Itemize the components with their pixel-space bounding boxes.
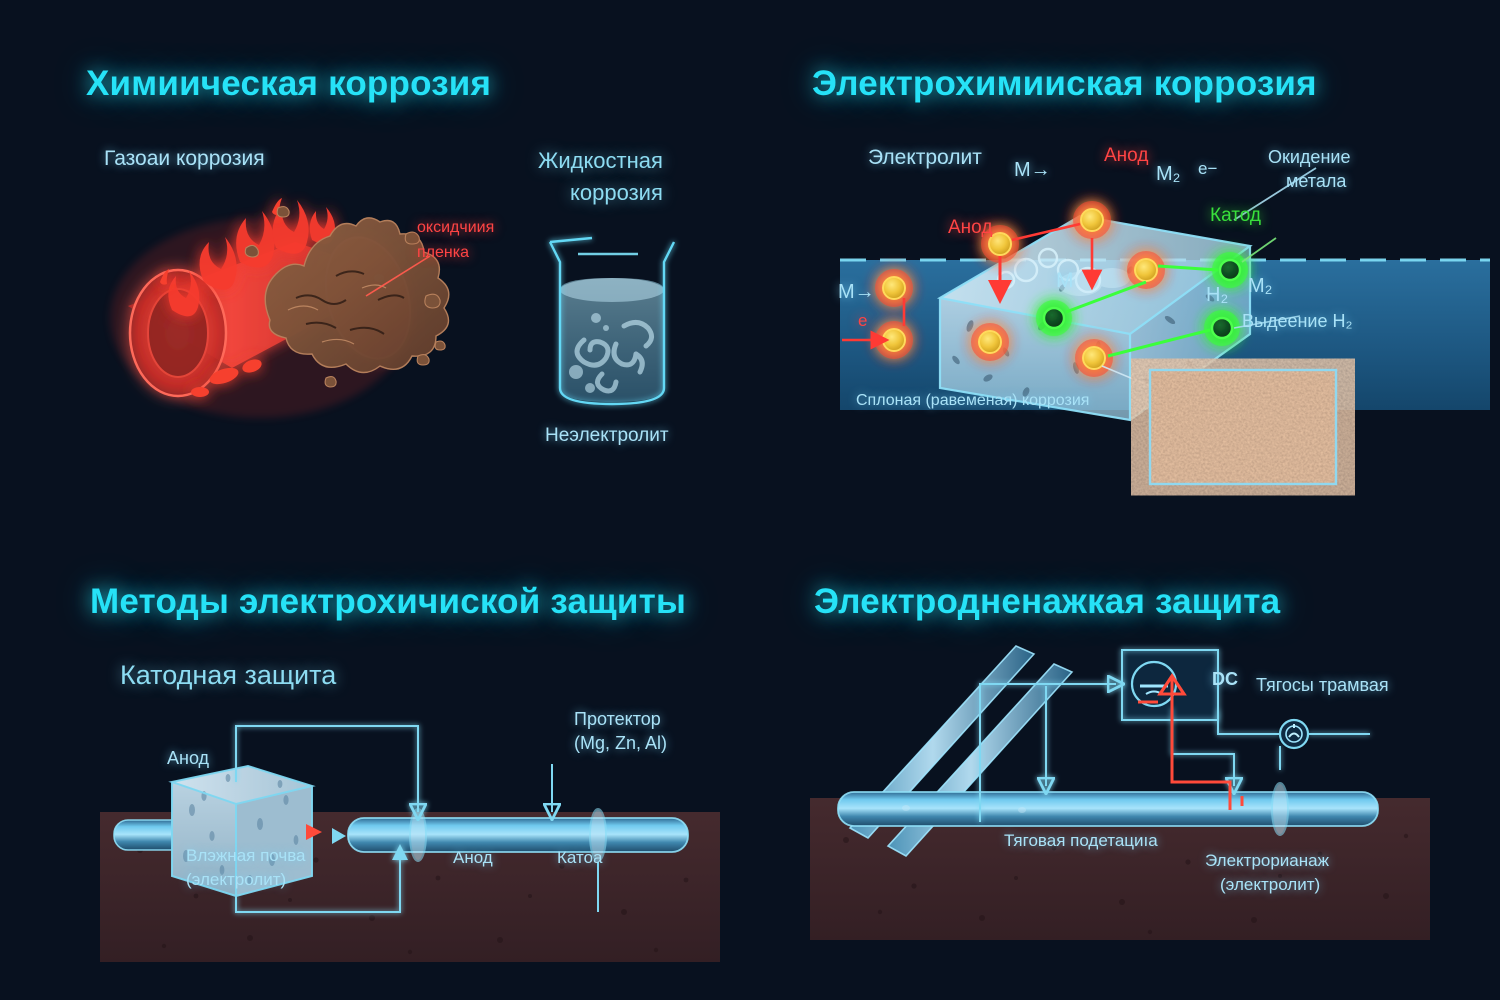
oxidation-label-line2: метала (1286, 170, 1346, 193)
oxide-film-label-line2: пленка (417, 243, 469, 263)
anode-label-top: Анод (1104, 144, 1148, 168)
anode-left-label: Анод (167, 747, 209, 770)
panel-cathodic-title: Методы электрохичиской защиты (90, 582, 686, 622)
protector-label-line1: Протектор (574, 708, 661, 731)
beaker-illustration (532, 228, 692, 418)
panel-chemical-title: Химиическая коррозия (86, 64, 491, 104)
cathodic-subtitle: Катодная защита (120, 660, 336, 691)
panel-electrochemical-corrosion: Электрохимииская коррозия (760, 0, 1500, 520)
metal-ion-label-top: M→ (1014, 158, 1051, 183)
infographic-canvas: Химиическая коррозия Газоаи коррозия (0, 0, 1500, 1000)
traction-substation-label: Тяговая подетациıа (1004, 830, 1158, 851)
rust-texture-swatch (1148, 368, 1338, 486)
protector-label-line2: (Mg, Zn, Al) (574, 732, 667, 755)
panel-cathodic-protection: Методы электрохичиской защиты Катодная з… (0, 520, 760, 1000)
electrolyte-label: Электролит (868, 145, 982, 171)
tram-cable-label: Тягосы трамвая (1256, 674, 1389, 697)
h2-label: H₂ (1206, 283, 1228, 308)
metal-center-label: M (1056, 268, 1074, 294)
anode-label-left: Анод (948, 216, 992, 240)
oxide-film-label-line1: оксидчиия (417, 218, 494, 238)
liquid-corrosion-subtitle-line1: Жидкостная (538, 148, 663, 174)
dc-source-label: DC (1212, 668, 1238, 691)
panel-stray-current-protection: Электродненажкая защита (760, 520, 1500, 1000)
panel-stray-current-title: Электродненажкая защита (814, 582, 1280, 622)
electron-superscript-label: e− (1198, 158, 1217, 179)
beaker-caption: Неэлектролит (545, 424, 669, 448)
panel-electrochemical-title: Электрохимииская коррозия (812, 64, 1317, 104)
h2-release-label: Выдеение H₂ (1242, 310, 1352, 333)
cathode-bottom-label: Катоа (557, 847, 603, 868)
moist-soil-label-line2: (электролит) (186, 869, 286, 890)
electron-left-label: e (858, 310, 867, 331)
uniform-corrosion-label: Сплоная (равеменая) коррозия (856, 391, 1089, 411)
cathode-label: Катод (1210, 204, 1261, 228)
liquid-corrosion-subtitle-line2: коррозия (570, 180, 663, 206)
electro-drainage-label-line2: (электролит) (1220, 874, 1320, 895)
moist-soil-label-line1: Влэжная почва (186, 845, 306, 866)
anode-bottom-label: Анод (453, 847, 493, 868)
panel-chemical-corrosion: Химиическая коррозия Газоаи коррозия (0, 0, 760, 520)
m2-right-label: M₂ (1248, 274, 1272, 299)
m2-label: M₂ (1156, 162, 1180, 187)
gas-corrosion-subtitle: Газоаи коррозия (104, 146, 265, 172)
oxidation-label-line1: Окидение (1268, 146, 1350, 169)
electro-drainage-label-line1: Электрорианаж (1205, 850, 1329, 871)
metal-ion-label-left: M→ (838, 280, 875, 305)
